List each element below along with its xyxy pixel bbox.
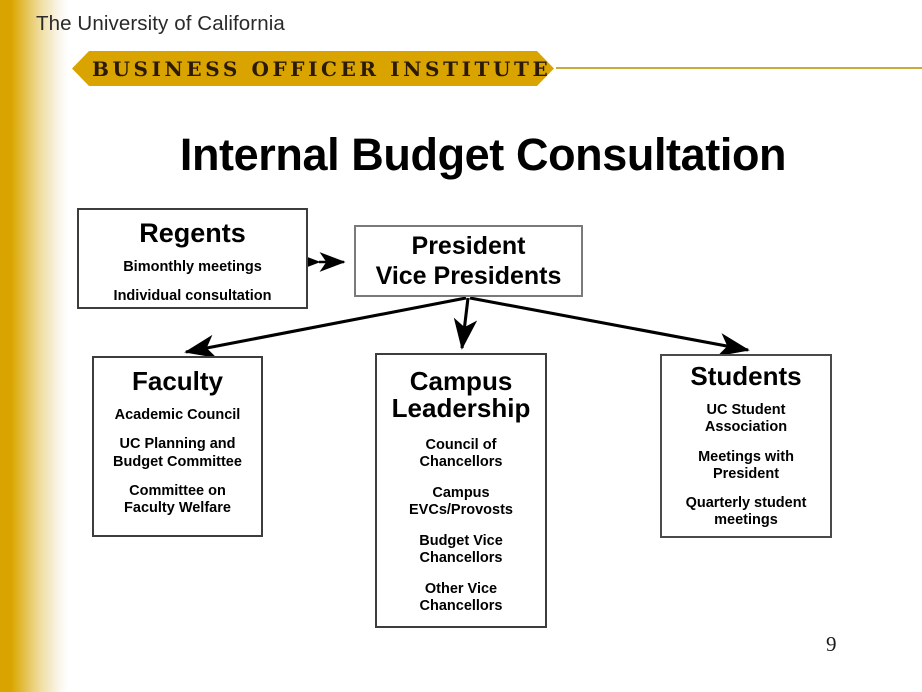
connector-president-campus <box>462 298 468 348</box>
node-campus-leadership: Campus Leadership Council ofChancellors … <box>375 353 547 628</box>
node-president-title-line2: Vice Presidents <box>376 261 562 292</box>
banner-rule-line <box>556 67 922 69</box>
business-officer-institute-banner: BUSINESS OFFICER INSTITUTE <box>72 51 554 86</box>
node-faculty-item: Committee onFaculty Welfare <box>124 483 231 517</box>
node-students-title: Students <box>690 363 801 390</box>
node-students-item: Quarterly studentmeetings <box>686 495 807 529</box>
node-regents-item: Bimonthly meetings <box>123 259 262 276</box>
node-students-item: Meetings withPresident <box>698 449 794 483</box>
node-faculty: Faculty Academic Council UC Planning and… <box>92 356 263 537</box>
node-faculty-item: Academic Council <box>115 407 241 424</box>
page-number: 9 <box>826 632 837 657</box>
node-campus-title-line2: Leadership <box>392 395 531 422</box>
node-campus-item: CampusEVCs/Provosts <box>409 485 513 519</box>
slide-canvas: The University of California BUSINESS OF… <box>0 0 922 692</box>
node-faculty-title: Faculty <box>132 368 223 395</box>
node-president-title-line1: President <box>412 231 526 262</box>
node-campus-item: Budget ViceChancellors <box>419 533 503 567</box>
node-faculty-item: UC Planning andBudget Committee <box>113 436 242 470</box>
node-campus-item: Other ViceChancellors <box>420 581 503 615</box>
node-regents: Regents Bimonthly meetings Individual co… <box>77 208 308 309</box>
left-gold-band <box>0 0 68 692</box>
page-title: Internal Budget Consultation <box>0 129 922 181</box>
node-students: Students UC StudentAssociation Meetings … <box>660 354 832 538</box>
connector-president-students <box>470 298 748 350</box>
node-regents-item: Individual consultation <box>114 288 272 305</box>
organization-title: The University of California <box>36 12 285 36</box>
banner-label: BUSINESS OFFICER INSTITUTE <box>72 51 554 86</box>
node-president: President Vice Presidents <box>354 225 583 297</box>
node-students-item: UC StudentAssociation <box>705 402 787 436</box>
node-campus-title-line1: Campus <box>410 368 513 395</box>
node-campus-item: Council ofChancellors <box>420 437 503 471</box>
node-regents-title: Regents <box>139 219 246 247</box>
